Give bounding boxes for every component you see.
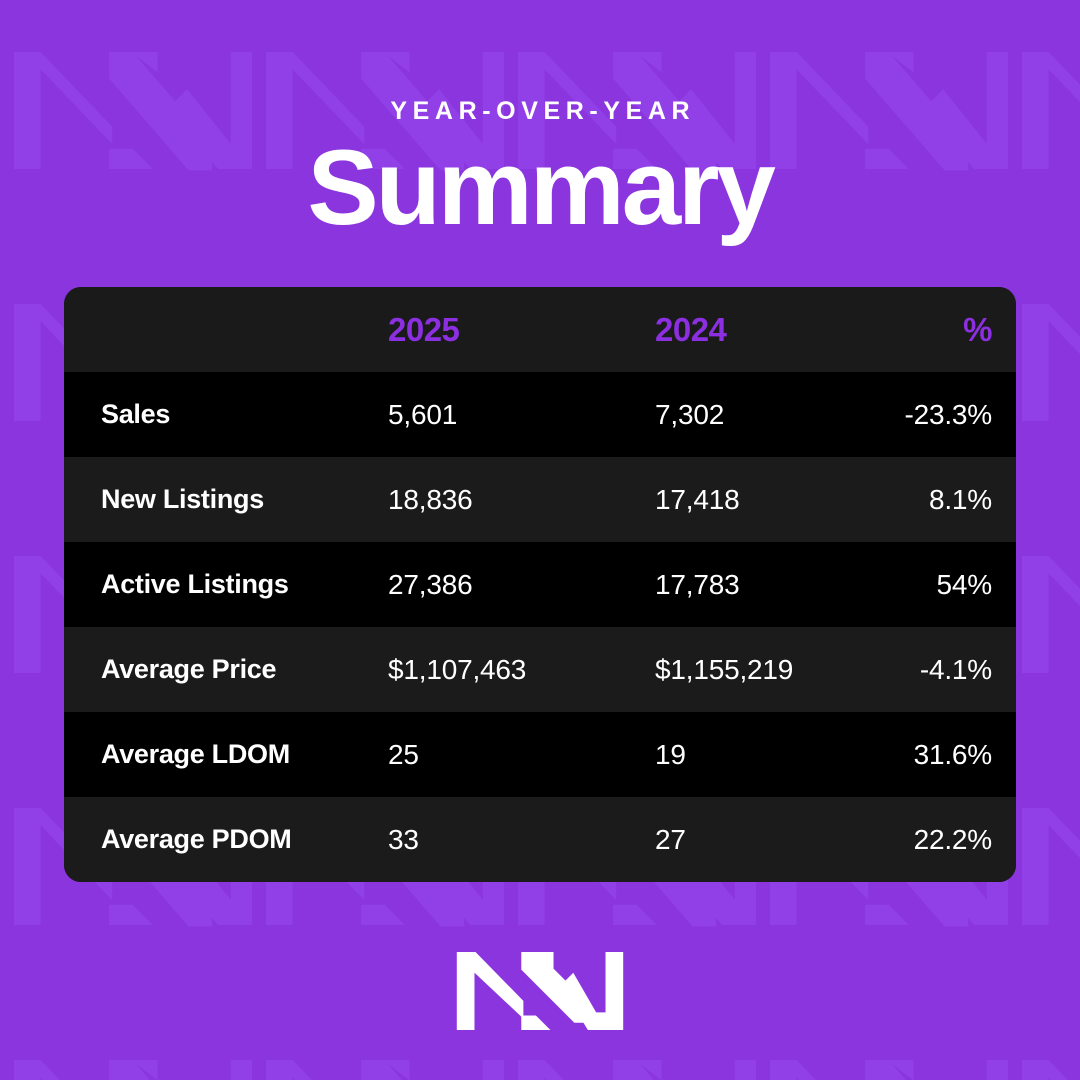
cell-2024: 7,302 [655,399,888,431]
summary-graphic: YEAR-OVER-YEAR Summary 2025 2024 % Sales… [0,0,1080,1080]
table-row: Sales 5,601 7,302 -23.3% [64,372,1016,457]
cell-pct: -4.1% [888,654,1016,686]
table-row: Average PDOM 33 27 22.2% [64,797,1016,882]
cell-2025: 25 [388,739,655,771]
column-header-2024: 2024 [655,311,888,349]
row-label: Average PDOM [64,824,388,855]
cell-2025: $1,107,463 [388,654,655,686]
row-label: Average LDOM [64,739,388,770]
row-label: Active Listings [64,569,388,600]
table-row: New Listings 18,836 17,418 8.1% [64,457,1016,542]
header-block: YEAR-OVER-YEAR Summary [0,0,1080,242]
cell-2024: 17,783 [655,569,888,601]
page-title: Summary [0,133,1080,242]
eyebrow-label: YEAR-OVER-YEAR [0,99,1080,124]
cell-pct: 54% [888,569,1016,601]
row-label: Sales [64,399,388,430]
row-label: Average Price [64,654,388,685]
cell-2024: 17,418 [655,484,888,516]
table-row: Average Price $1,107,463 $1,155,219 -4.1… [64,627,1016,712]
brand-logo [0,952,1080,1030]
cell-2025: 18,836 [388,484,655,516]
cell-2024: 19 [655,739,888,771]
cell-2024: $1,155,219 [655,654,888,686]
cell-pct: -23.3% [888,399,1016,431]
cell-2025: 27,386 [388,569,655,601]
cell-2024: 27 [655,824,888,856]
cell-2025: 33 [388,824,655,856]
table-row: Active Listings 27,386 17,783 54% [64,542,1016,627]
cell-pct: 31.6% [888,739,1016,771]
column-header-2025: 2025 [388,311,655,349]
nn-monogram-icon [449,952,631,1030]
cell-2025: 5,601 [388,399,655,431]
cell-pct: 22.2% [888,824,1016,856]
column-header-pct: % [888,311,1016,349]
summary-table: 2025 2024 % Sales 5,601 7,302 -23.3% New… [64,287,1016,882]
row-label: New Listings [64,484,388,515]
table-row: Average LDOM 25 19 31.6% [64,712,1016,797]
cell-pct: 8.1% [888,484,1016,516]
table-header-row: 2025 2024 % [64,287,1016,372]
